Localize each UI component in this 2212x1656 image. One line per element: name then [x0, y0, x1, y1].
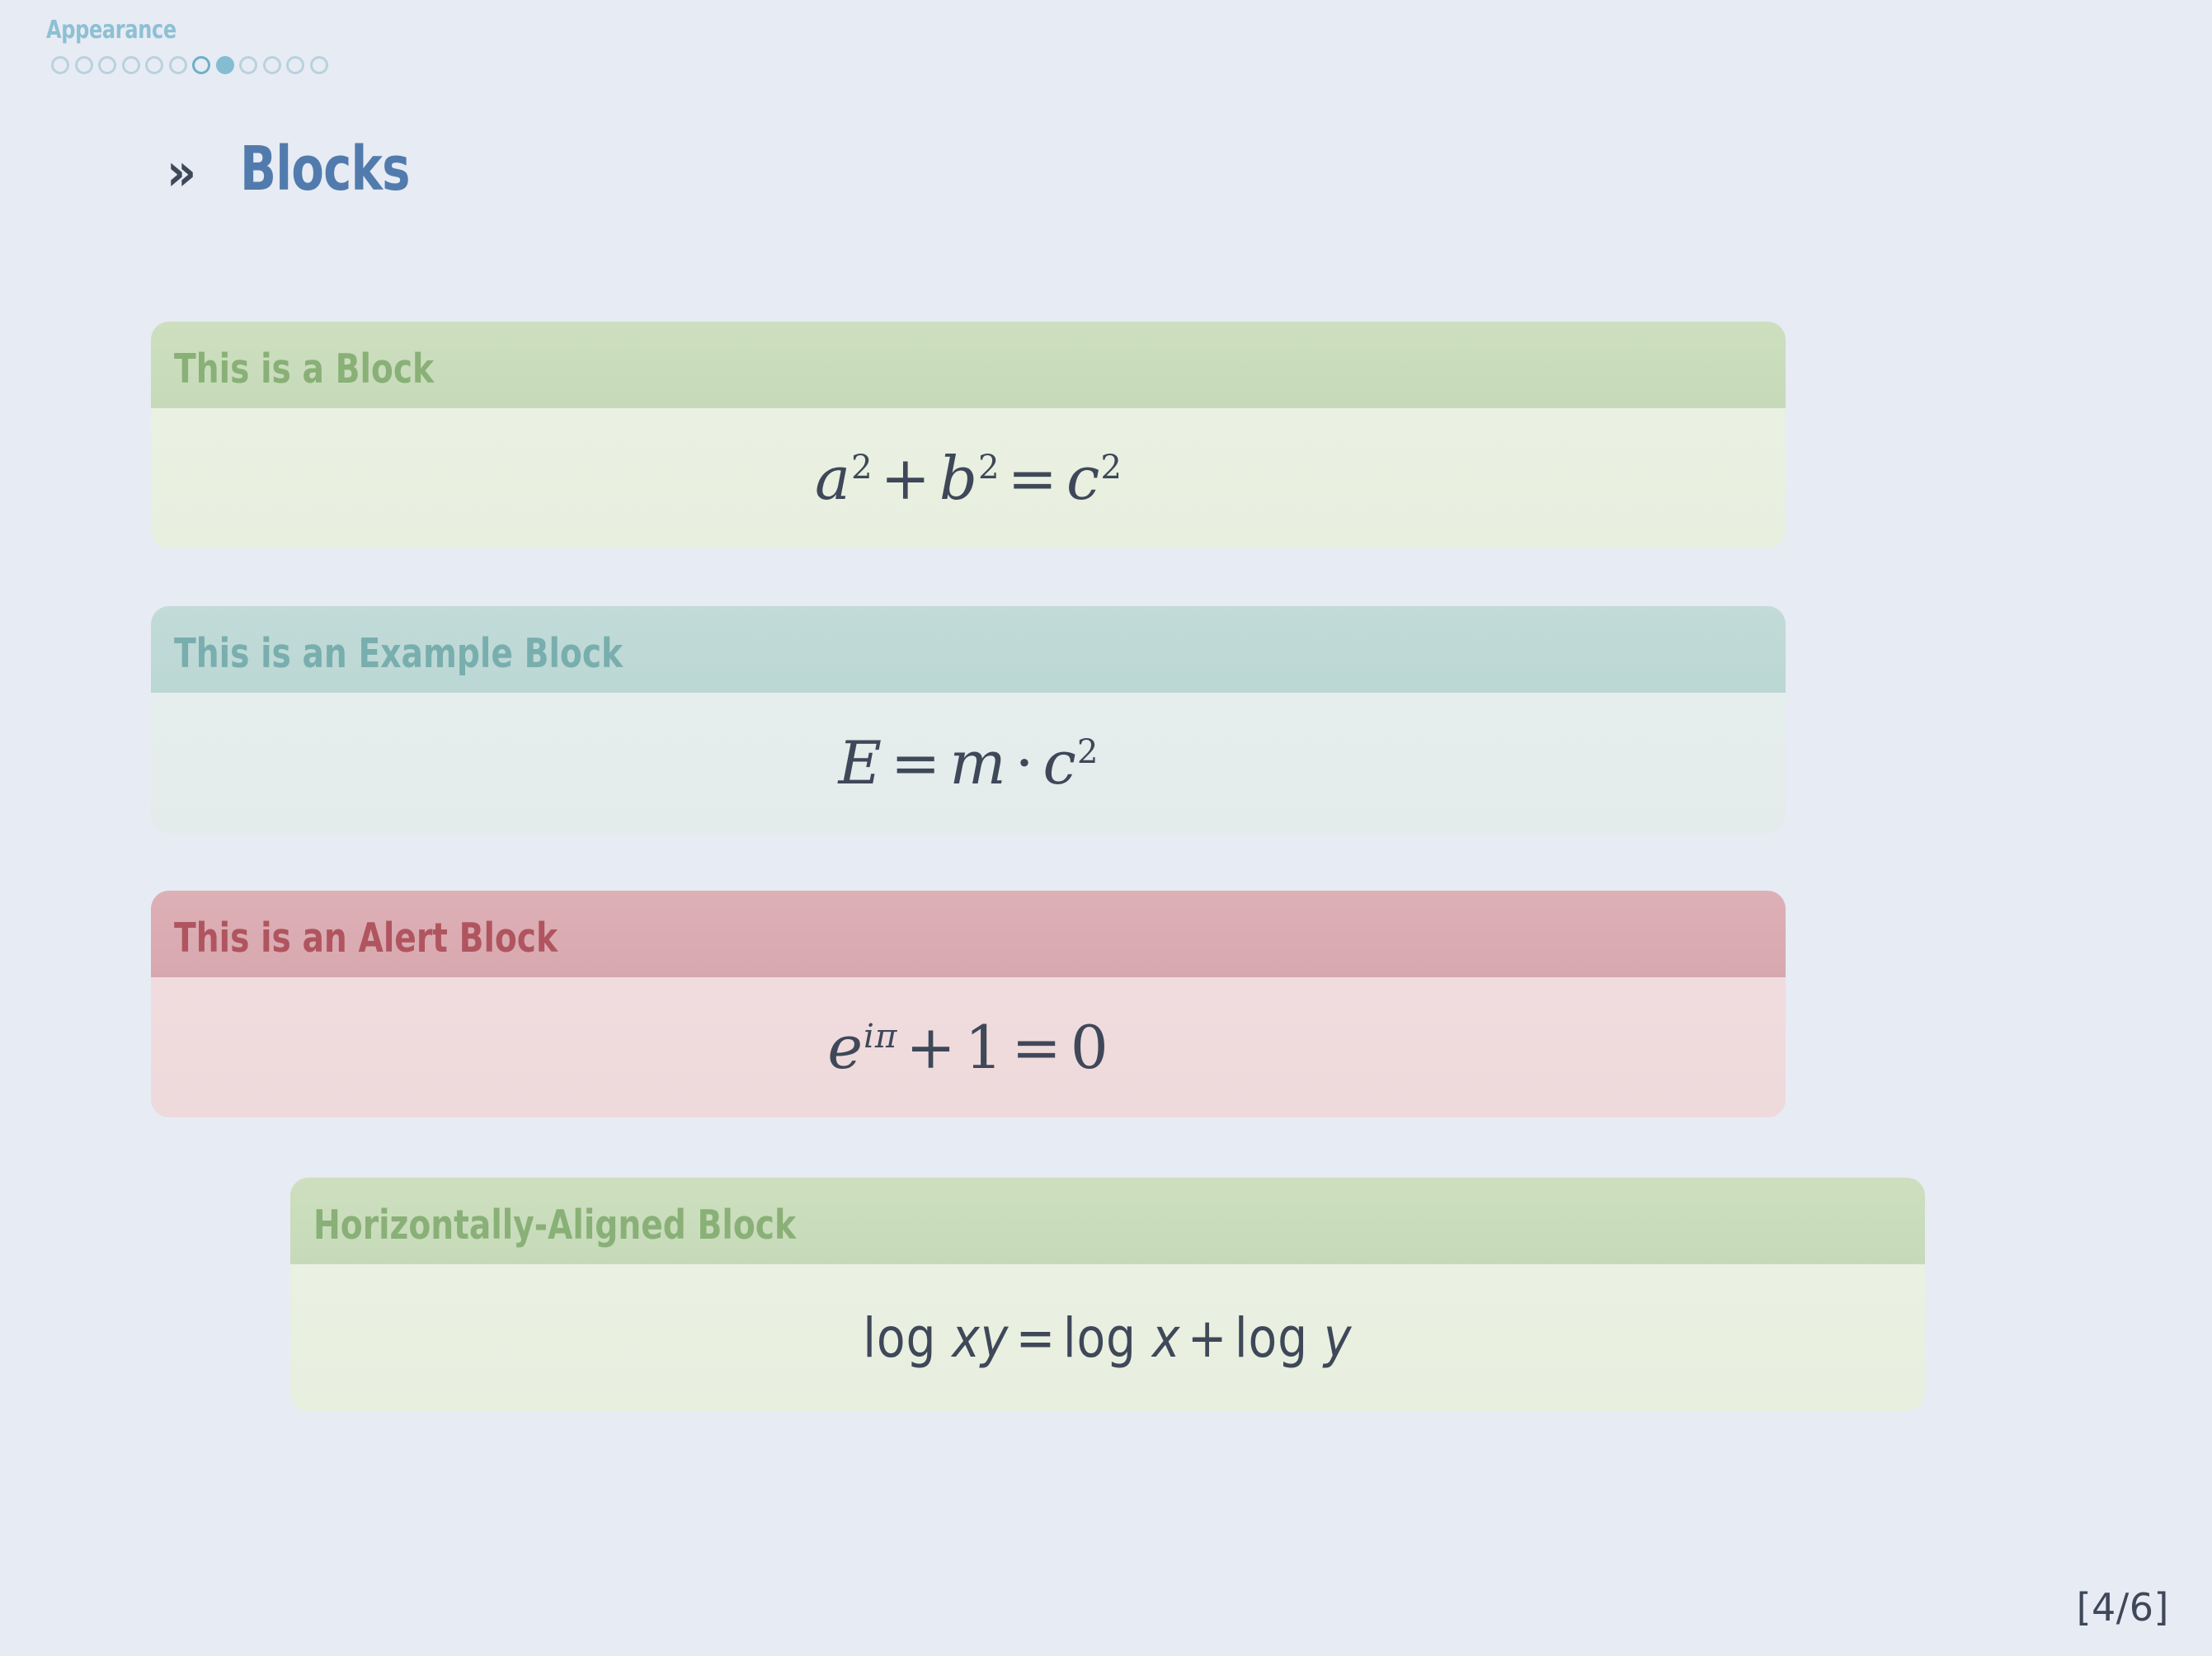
example-block-body: E=m·c2: [151, 693, 1786, 833]
progress-dot-10[interactable]: [263, 56, 281, 74]
example-block-formula: E=m·c2: [838, 728, 1098, 797]
progress-dot-1[interactable]: [51, 56, 69, 74]
frame-title-row: » Blocks: [165, 139, 434, 200]
horizontally-aligned-block-title-text: Horizontally-Aligned Block: [313, 1205, 796, 1245]
horizontally-aligned-block-formula: log xy=log x+log y: [863, 1306, 1352, 1370]
progress-dot-11[interactable]: [286, 56, 304, 74]
horizontally-aligned-block-title: Horizontally-Aligned Block: [290, 1178, 1925, 1264]
progress-dot-5[interactable]: [145, 56, 163, 74]
horizontally-aligned-block-body: log xy=log x+log y: [290, 1264, 1925, 1411]
example-block-title: This is an Example Block: [151, 606, 1786, 693]
standard-block-formula: a2+b2=c2: [815, 444, 1122, 513]
progress-dot-12[interactable]: [310, 56, 328, 74]
alert-block: This is an Alert Blockeiπ+1=0: [151, 891, 1786, 1117]
progress-dot-9[interactable]: [239, 56, 257, 74]
alert-block-formula: eiπ+1=0: [827, 1013, 1108, 1082]
progress-dot-section[interactable]: [192, 56, 210, 74]
example-block: This is an Example BlockE=m·c2: [151, 606, 1786, 833]
horizontally-aligned-block: Horizontally-Aligned Blocklog xy=log x+l…: [290, 1178, 1925, 1411]
alert-block-title: This is an Alert Block: [151, 891, 1786, 977]
chevron-right-double-icon: »: [167, 147, 196, 198]
progress-dots: [46, 56, 328, 74]
progress-dot-4[interactable]: [122, 56, 140, 74]
alert-block-title-text: This is an Alert Block: [174, 918, 558, 958]
progress-dot-6[interactable]: [169, 56, 187, 74]
section-label: Appearance: [46, 18, 271, 43]
alert-block-body: eiπ+1=0: [151, 977, 1786, 1117]
standard-block-body: a2+b2=c2: [151, 408, 1786, 548]
standard-block: This is a Blocka2+b2=c2: [151, 322, 1786, 548]
progress-dot-3[interactable]: [98, 56, 116, 74]
progress-dot-current[interactable]: [216, 56, 234, 74]
page-title: Blocks: [240, 139, 410, 200]
page-number: [4/6]: [2077, 1585, 2169, 1630]
standard-block-title-text: This is a Block: [174, 349, 434, 389]
standard-block-title: This is a Block: [151, 322, 1786, 408]
example-block-title-text: This is an Example Block: [174, 633, 623, 674]
progress-dot-2[interactable]: [75, 56, 93, 74]
slide-header: Appearance: [46, 18, 328, 74]
